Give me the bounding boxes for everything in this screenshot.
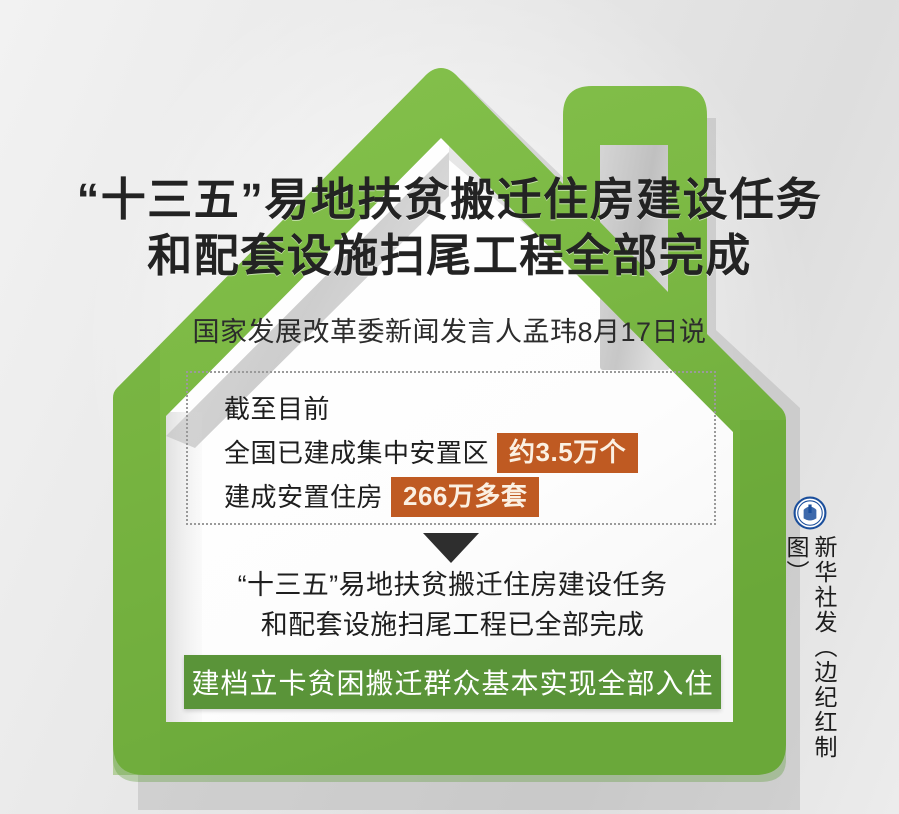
stat-label: 建成安置住房 — [224, 475, 383, 519]
conclusion-line-1: “十三五”易地扶贫搬迁住房建设任务 — [180, 565, 725, 605]
subtitle-source: 国家发展改革委新闻发言人孟玮8月17日说 — [0, 310, 899, 349]
stat-value-badge: 约3.5万个 — [497, 433, 638, 473]
stats-heading: 截至目前 — [224, 387, 330, 431]
credit-text: 新华社发（边纪红制图） — [782, 535, 838, 793]
title-line-1: “十三五”易地扶贫搬迁住房建设任务 — [0, 172, 899, 228]
banner-text: 建档立卡贫困搬迁群众基本实现全部入住 — [191, 662, 713, 702]
stats-box: 截至目前 全国已建成集中安置区 约3.5万个 建成安置住房 266万多套 — [186, 371, 716, 525]
highlight-banner: 建档立卡贫困搬迁群众基本实现全部入住 — [184, 655, 721, 709]
stat-label: 全国已建成集中安置区 — [224, 431, 489, 475]
title-line-2: 和配套设施扫尾工程全部完成 — [0, 228, 899, 284]
conclusion-text: “十三五”易地扶贫搬迁住房建设任务 和配套设施扫尾工程已全部完成 — [180, 565, 725, 645]
down-triangle-icon — [423, 533, 479, 563]
stat-row: 建成安置住房 266万多套 — [224, 475, 714, 519]
stats-heading-row: 截至目前 — [224, 387, 714, 431]
stat-value-badge: 266万多套 — [391, 477, 539, 517]
stats-inner: 截至目前 全国已建成集中安置区 约3.5万个 建成安置住房 266万多套 — [188, 373, 714, 519]
conclusion-line-2: 和配套设施扫尾工程已全部完成 — [180, 605, 725, 645]
xinhua-logo-icon — [793, 496, 827, 530]
house-right-edge-shade — [740, 420, 786, 775]
page-title: “十三五”易地扶贫搬迁住房建设任务 和配套设施扫尾工程全部完成 — [0, 172, 899, 284]
infographic-canvas: “十三五”易地扶贫搬迁住房建设任务 和配套设施扫尾工程全部完成 国家发展改革委新… — [0, 0, 899, 814]
stat-row: 全国已建成集中安置区 约3.5万个 — [224, 431, 714, 475]
credit-column: 新华社发（边纪红制图） — [786, 496, 834, 793]
house-left-edge-shade — [113, 345, 160, 775]
